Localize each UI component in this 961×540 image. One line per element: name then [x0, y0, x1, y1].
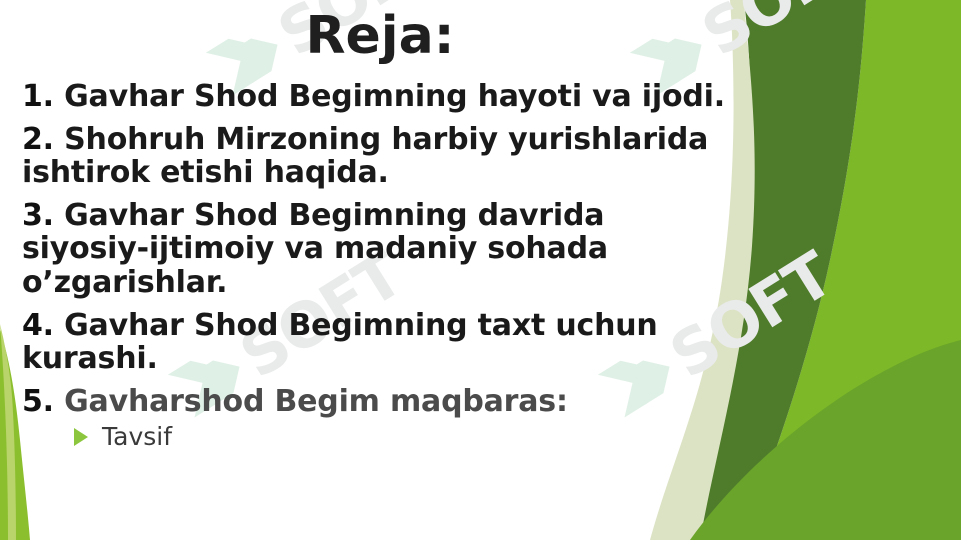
outline-item-4-number: 4.: [22, 308, 54, 343]
outline-item-2-text: Shohruh Mirzoning harbiy yurishlarida is…: [22, 122, 708, 191]
presentation-slide: SOFT SOFT SOFT SOFT Reja:: [0, 0, 961, 540]
outline-item-3-number: 3.: [22, 198, 54, 233]
outline-item-4: 4. Gavhar Shod Begimning taxt uchun kura…: [22, 309, 734, 376]
outline-list: 1. Gavhar Shod Begimning hayoti va ijodi…: [22, 80, 734, 452]
outline-sub-item-label: Tavsif: [102, 422, 172, 452]
outline-item-4-text: Gavhar Shod Begimning taxt uchun kurashi…: [22, 308, 658, 377]
outline-item-3: 3. Gavhar Shod Begimning davrida siyosiy…: [22, 199, 734, 300]
outline-item-5: 5. Gavharshod Begim maqbaras:: [22, 385, 734, 419]
outline-sub-item-tavsif: Tavsif: [74, 422, 734, 452]
outline-item-1: 1. Gavhar Shod Begimning hayoti va ijodi…: [22, 80, 734, 114]
triangle-bullet-icon: [74, 428, 88, 446]
slide-content: Reja: 1. Gavhar Shod Begimning hayoti va…: [0, 0, 961, 540]
outline-item-1-number: 1.: [22, 79, 54, 114]
outline-item-2-number: 2.: [22, 122, 54, 157]
outline-item-5-text: Gavharshod Begim maqbaras:: [64, 384, 568, 419]
outline-sub-list: Tavsif: [22, 422, 734, 452]
outline-item-3-text: Gavhar Shod Begimning davrida siyosiy-ij…: [22, 198, 608, 300]
outline-item-5-number: 5.: [22, 384, 54, 419]
outline-item-1-text: Gavhar Shod Begimning hayoti va ijodi.: [64, 79, 725, 114]
outline-item-2: 2. Shohruh Mirzoning harbiy yurishlarida…: [22, 123, 734, 190]
slide-title: Reja:: [0, 8, 760, 65]
